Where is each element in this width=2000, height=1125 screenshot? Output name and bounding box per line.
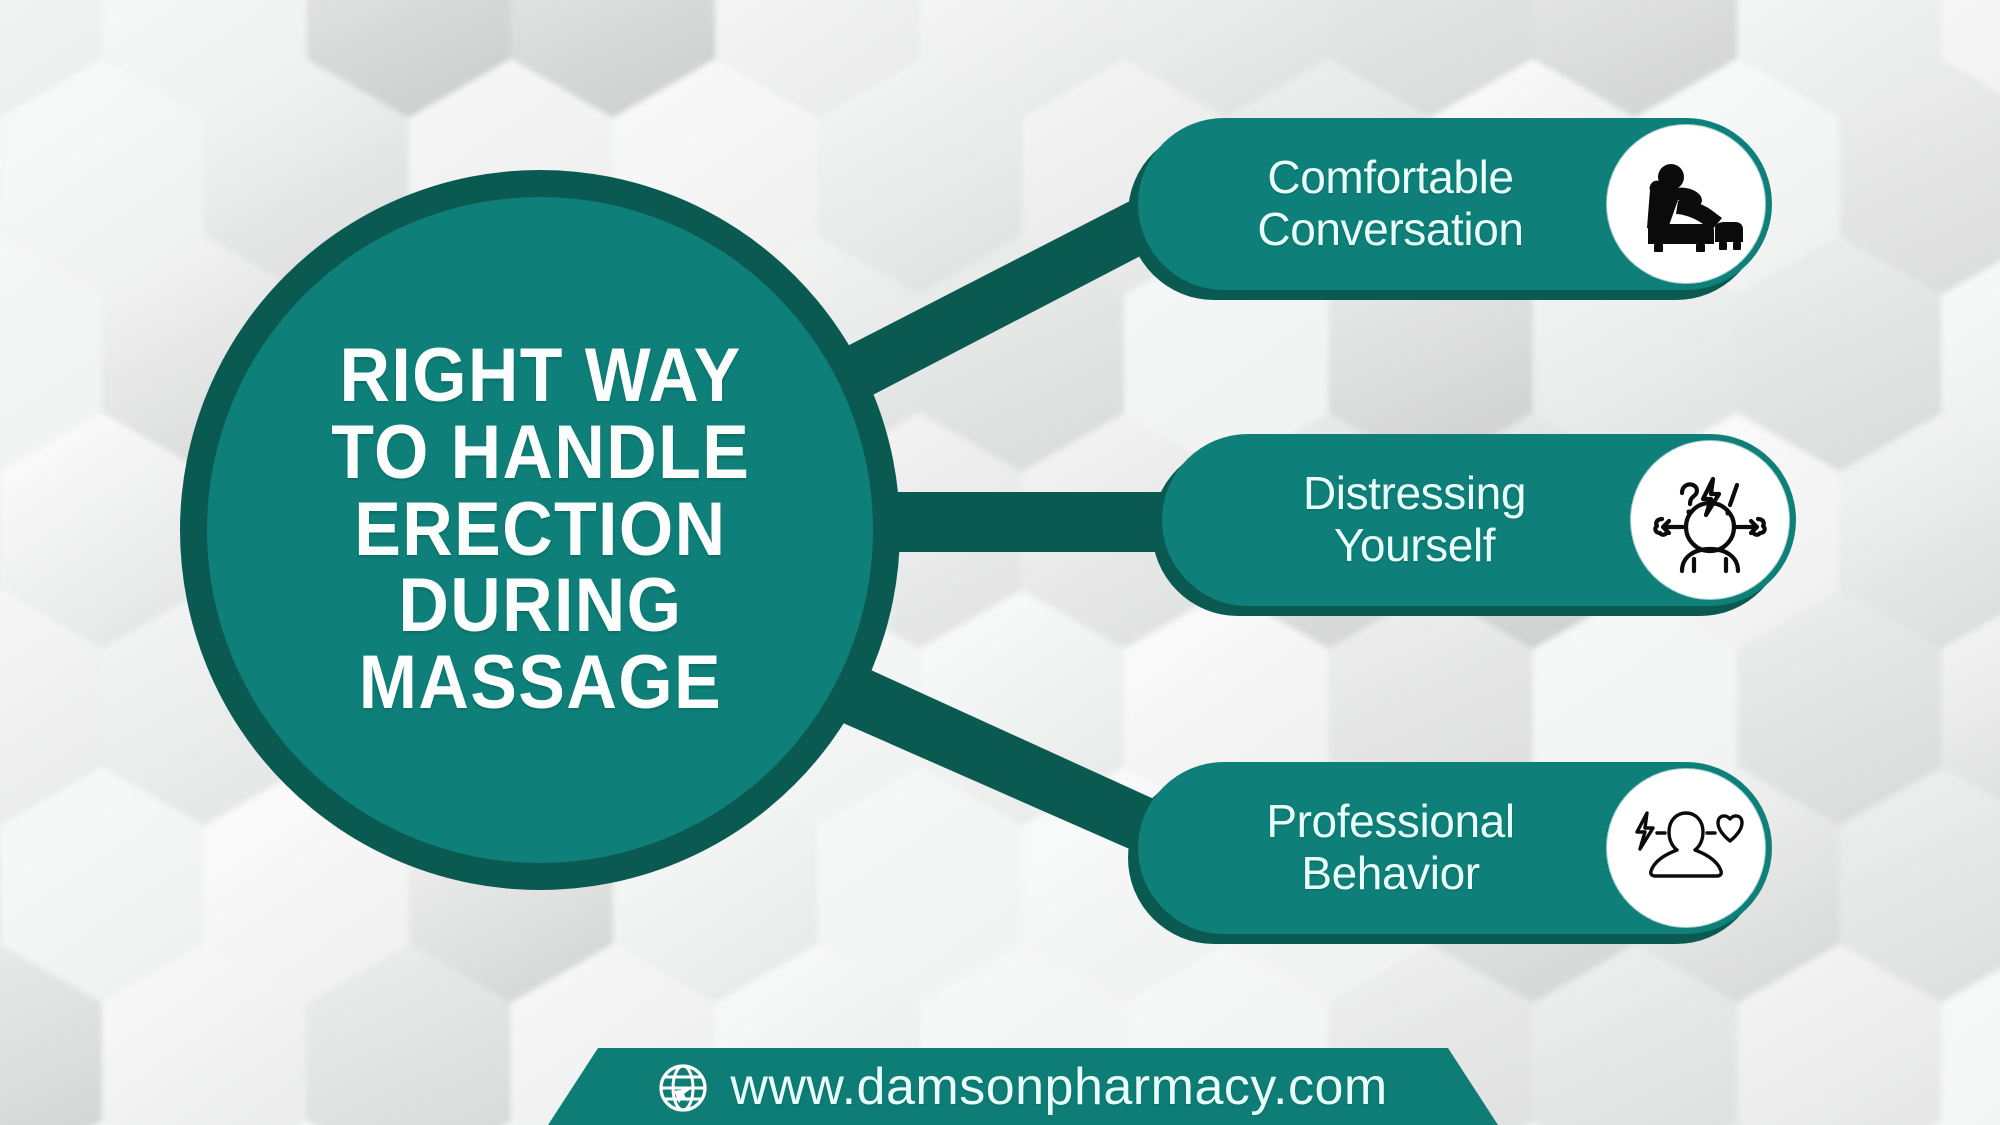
card-2-icon-badge xyxy=(1631,441,1789,599)
card-2-label-line-2: Yourself xyxy=(1206,520,1623,572)
card-comfortable-conversation[interactable]: Comfortable Conversation xyxy=(1138,118,1772,290)
card-1-label-line-2: Conversation xyxy=(1182,204,1599,256)
card-3-label-line-2: Behavior xyxy=(1182,848,1599,900)
globe-icon xyxy=(658,1063,708,1113)
card-2-label: Distressing Yourself xyxy=(1162,468,1631,571)
footer-url-banner[interactable]: www.damsonpharmacy.com xyxy=(548,1048,1498,1125)
card-1-label: Comfortable Conversation xyxy=(1138,152,1607,255)
card-3-label-line-1: Professional xyxy=(1182,796,1599,848)
card-distressing-yourself[interactable]: Distressing Yourself xyxy=(1162,434,1796,606)
stressed-person-head-icon xyxy=(1649,459,1771,581)
person-reclining-in-armchair-icon xyxy=(1626,144,1746,264)
card-professional-behavior[interactable]: Professional Behavior xyxy=(1138,762,1772,934)
card-1-icon-badge xyxy=(1607,125,1765,283)
card-1-label-line-1: Comfortable xyxy=(1182,152,1599,204)
center-circle-fill[interactable] xyxy=(207,197,873,863)
footer-url-text: www.damsonpharmacy.com xyxy=(730,1057,1387,1117)
person-lightning-heart-icon xyxy=(1625,787,1747,909)
card-2-label-line-1: Distressing xyxy=(1206,468,1623,520)
card-3-label: Professional Behavior xyxy=(1138,796,1607,899)
card-3-icon-badge xyxy=(1607,769,1765,927)
